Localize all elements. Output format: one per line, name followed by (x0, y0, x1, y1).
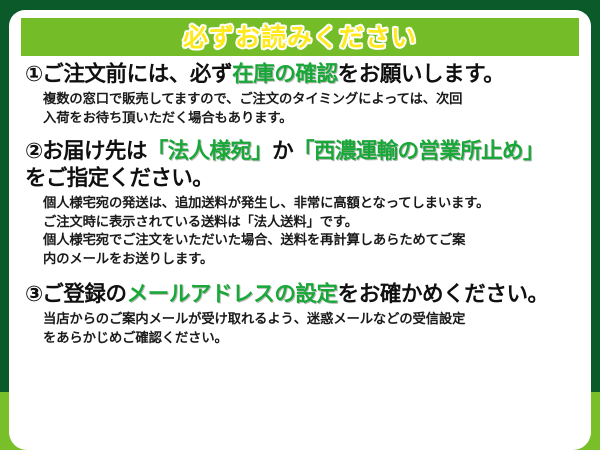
notice-item-2-body-line-1: 個人様宅宛の発送は、追加送料が発生し、非常に高額となってしまいます。 (43, 195, 577, 214)
notice-item-3: ③ご登録のメールアドレスの設定をお確かめください。 当店からのご案内メールが受け… (25, 282, 577, 348)
notice-item-2-body-line-2: ご注文時に表示されている送料は「法人送料」です。 (43, 214, 577, 233)
notice-item-2: ②お届け先は「法人様宛」か「西濃運輸の営業所止め」をご指定ください。 個人様宅宛… (25, 139, 577, 270)
notice-item-2-head-line-2: をご指定ください。 (25, 166, 577, 193)
notice-item-1-body-line-1: 複数の窓口で販売してますので、ご注文のタイミングによっては、次回 (43, 91, 577, 110)
notice-card: 必ずお読みください ①ご注文前には、必ず在庫の確認をお願いします。 複数の窓口で… (0, 0, 600, 450)
notice-item-2-number: ② (25, 139, 42, 164)
notice-item-2-body-line-3: 個人様宅宛でご注文をいただいた場合、送料を再計算しあらためてご案 (43, 232, 577, 251)
notice-panel: 必ずお読みください ①ご注文前には、必ず在庫の確認をお願いします。 複数の窓口で… (9, 10, 591, 450)
notice-item-1-head-prefix: ご注文前には、必ず (42, 62, 232, 87)
notice-item-2-body: 個人様宅宛の発送は、追加送料が発生し、非常に高額となってしまいます。 ご注文時に… (25, 195, 577, 271)
notice-item-3-head-highlight: メールアドレスの設定 (127, 282, 338, 307)
notice-item-1: ①ご注文前には、必ず在庫の確認をお願いします。 複数の窓口で販売してますので、ご… (25, 62, 577, 128)
notice-item-2-heading: ②お届け先は「法人様宛」か「西濃運輸の営業所止め」をご指定ください。 (25, 139, 577, 192)
notice-item-3-number: ③ (25, 282, 42, 307)
notice-items: ①ご注文前には、必ず在庫の確認をお願いします。 複数の窓口で販売してますので、ご… (21, 56, 579, 349)
notice-item-1-head-highlight: 在庫の確認 (232, 62, 338, 87)
notice-item-3-body: 当店からのご案内メールが受け取れるよう、迷惑メールなどの受信設定 をあらかじめご… (25, 311, 577, 349)
notice-item-1-body: 複数の窓口で販売してますので、ご注文のタイミングによっては、次回 入荷をお待ち頂… (25, 91, 577, 129)
notice-header-bar: 必ずお読みください (21, 18, 579, 56)
notice-item-1-body-line-2: 入荷をお待ち頂いただく場合もあります。 (43, 110, 577, 129)
notice-item-1-head-suffix: をお願いします。 (338, 62, 505, 87)
notice-item-3-head-prefix: ご登録の (42, 282, 126, 307)
notice-item-1-number: ① (25, 62, 42, 87)
notice-item-3-body-line-1: 当店からのご案内メールが受け取れるよう、迷惑メールなどの受信設定 (43, 311, 577, 330)
notice-item-2-body-line-4: 内のメールをお送りします。 (43, 251, 577, 270)
notice-item-1-heading: ①ご注文前には、必ず在庫の確認をお願いします。 (25, 62, 577, 89)
notice-item-2-head-middle: か (272, 139, 293, 164)
notice-item-2-head-highlight: 「法人様宛」 (147, 139, 272, 164)
notice-item-3-head-suffix: をお確かめください。 (338, 282, 549, 307)
page-title: 必ずお読みください (183, 25, 417, 50)
notice-item-2-head-highlight-2: 「西濃運輸の営業所止め」 (293, 139, 544, 164)
notice-item-3-heading: ③ご登録のメールアドレスの設定をお確かめください。 (25, 282, 577, 309)
notice-item-2-head-prefix: お届け先は (42, 139, 147, 164)
notice-item-3-body-line-2: をあらかじめご確認ください。 (43, 330, 577, 349)
